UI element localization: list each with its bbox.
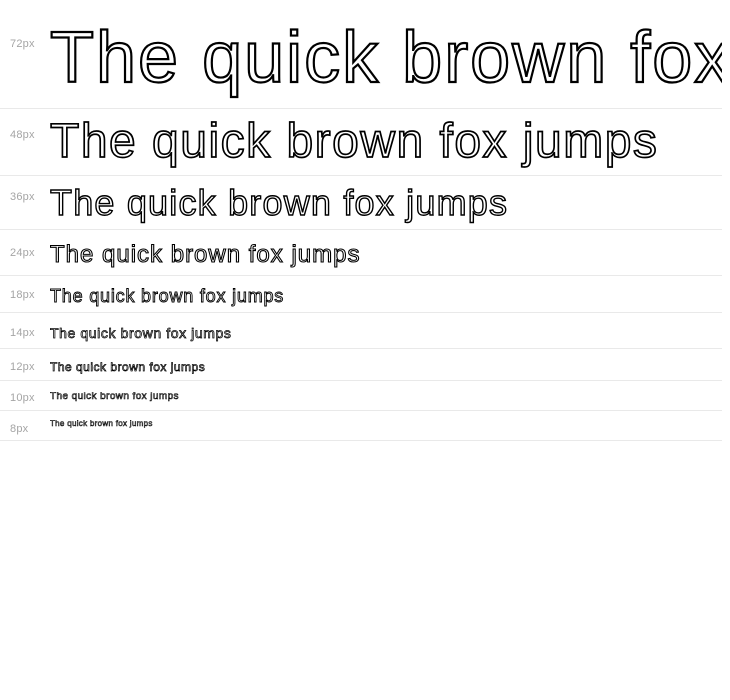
specimen-row: 14px The quick brown fox jumps <box>0 313 722 349</box>
specimen-row: 36px The quick brown fox jumps <box>0 176 722 230</box>
sample-text-8: The quick brown fox jumps <box>50 420 722 440</box>
specimen-row: 18px The quick brown fox jumps <box>0 276 722 313</box>
size-label-36: 36px <box>10 192 50 229</box>
specimen-row: 48px The quick brown fox jumps <box>0 109 722 176</box>
size-label-8: 8px <box>10 424 50 440</box>
size-label-12: 12px <box>10 362 50 380</box>
sample-text-12: The quick brown fox jumps <box>50 361 722 380</box>
specimen-row: 24px The quick brown fox jumps <box>0 230 722 276</box>
sample-text-36: The quick brown fox jumps <box>50 185 722 229</box>
font-specimen-waterfall: 72px The quick brown fox jumps 48px The … <box>0 0 730 441</box>
size-label-14: 14px <box>10 328 50 348</box>
specimen-row: 72px The quick brown fox jumps <box>0 0 722 109</box>
sample-text-14: The quick brown fox jumps <box>50 326 722 348</box>
sample-text-24: The quick brown fox jumps <box>50 243 722 275</box>
sample-text-18: The quick brown fox jumps <box>50 287 722 312</box>
sample-text-72: The quick brown fox jumps <box>50 22 722 108</box>
specimen-row: 12px The quick brown fox jumps <box>0 349 722 381</box>
size-label-72: 72px <box>10 39 50 108</box>
sample-text-10: The quick brown fox jumps <box>50 392 722 410</box>
size-label-18: 18px <box>10 290 50 312</box>
specimen-row: 8px The quick brown fox jumps <box>0 411 722 441</box>
size-label-10: 10px <box>10 393 50 410</box>
size-label-24: 24px <box>10 248 50 275</box>
size-label-48: 48px <box>10 130 50 175</box>
sample-text-48: The quick brown fox jumps <box>50 118 722 175</box>
specimen-row: 10px The quick brown fox jumps <box>0 381 722 411</box>
